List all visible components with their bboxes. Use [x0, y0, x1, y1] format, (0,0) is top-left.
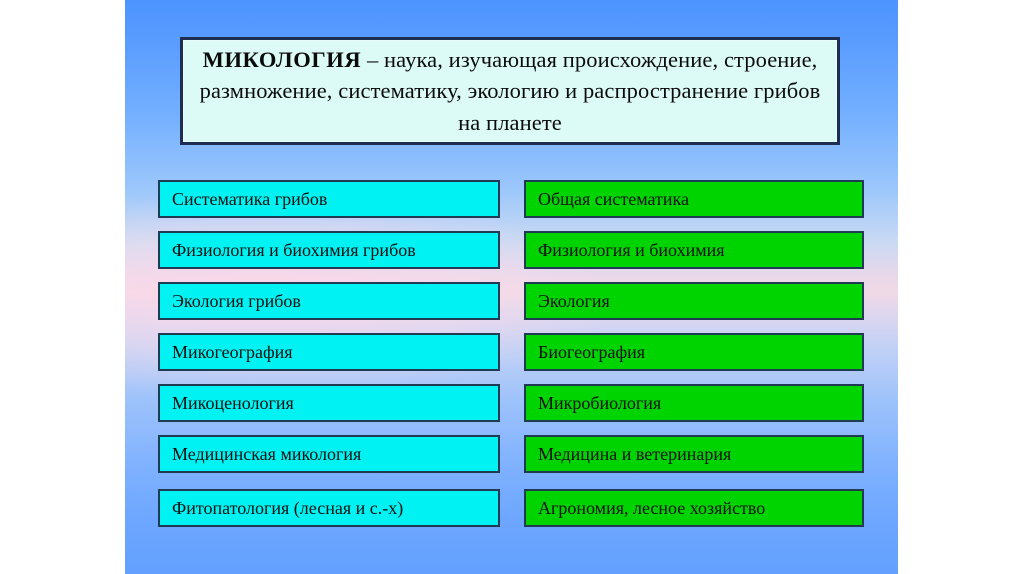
left-term-box-systematics[interactable]: Систематика грибов — [158, 180, 500, 218]
left-term-label: Медицинская микология — [172, 445, 361, 463]
left-term-box-phytopathology[interactable]: Фитопатология (лесная и с.-х) — [158, 489, 500, 527]
left-term-label: Физиология и биохимия грибов — [172, 241, 416, 259]
right-term-box-physiology[interactable]: Физиология и биохимия — [524, 231, 864, 269]
right-term-label: Физиология и биохимия — [538, 241, 725, 259]
left-term-label: Микогеография — [172, 343, 293, 361]
right-term-label: Общая систематика — [538, 190, 689, 208]
right-term-label: Медицина и ветеринария — [538, 445, 731, 463]
left-term-box-medical-mycology[interactable]: Медицинская микология — [158, 435, 500, 473]
right-term-box-medicine-veterinary[interactable]: Медицина и ветеринария — [524, 435, 864, 473]
left-term-label: Систематика грибов — [172, 190, 327, 208]
slide-root: МИКОЛОГИЯ – наука, изучающая происхожден… — [0, 0, 1024, 574]
right-term-box-general-systematics[interactable]: Общая систематика — [524, 180, 864, 218]
left-term-label: Фитопатология (лесная и с.-х) — [172, 499, 403, 517]
left-term-label: Экология грибов — [172, 292, 301, 310]
right-term-box-ecology[interactable]: Экология — [524, 282, 864, 320]
right-term-label: Агрономия, лесное хозяйство — [538, 499, 765, 517]
left-term-box-mycocenology[interactable]: Микоценология — [158, 384, 500, 422]
term-columns: Систематика грибов Физиология и биохимия… — [125, 0, 898, 574]
left-term-box-physiology[interactable]: Физиология и биохимия грибов — [158, 231, 500, 269]
right-term-label: Микробиология — [538, 394, 661, 412]
left-term-box-mycogeography[interactable]: Микогеография — [158, 333, 500, 371]
left-term-label: Микоценология — [172, 394, 294, 412]
right-term-box-microbiology[interactable]: Микробиология — [524, 384, 864, 422]
left-term-box-ecology[interactable]: Экология грибов — [158, 282, 500, 320]
right-term-label: Экология — [538, 292, 610, 310]
right-term-label: Биогеография — [538, 343, 645, 361]
slide-surface: МИКОЛОГИЯ – наука, изучающая происхожден… — [125, 0, 898, 574]
right-term-box-biogeography[interactable]: Биогеография — [524, 333, 864, 371]
right-term-box-agronomy-forestry[interactable]: Агрономия, лесное хозяйство — [524, 489, 864, 527]
